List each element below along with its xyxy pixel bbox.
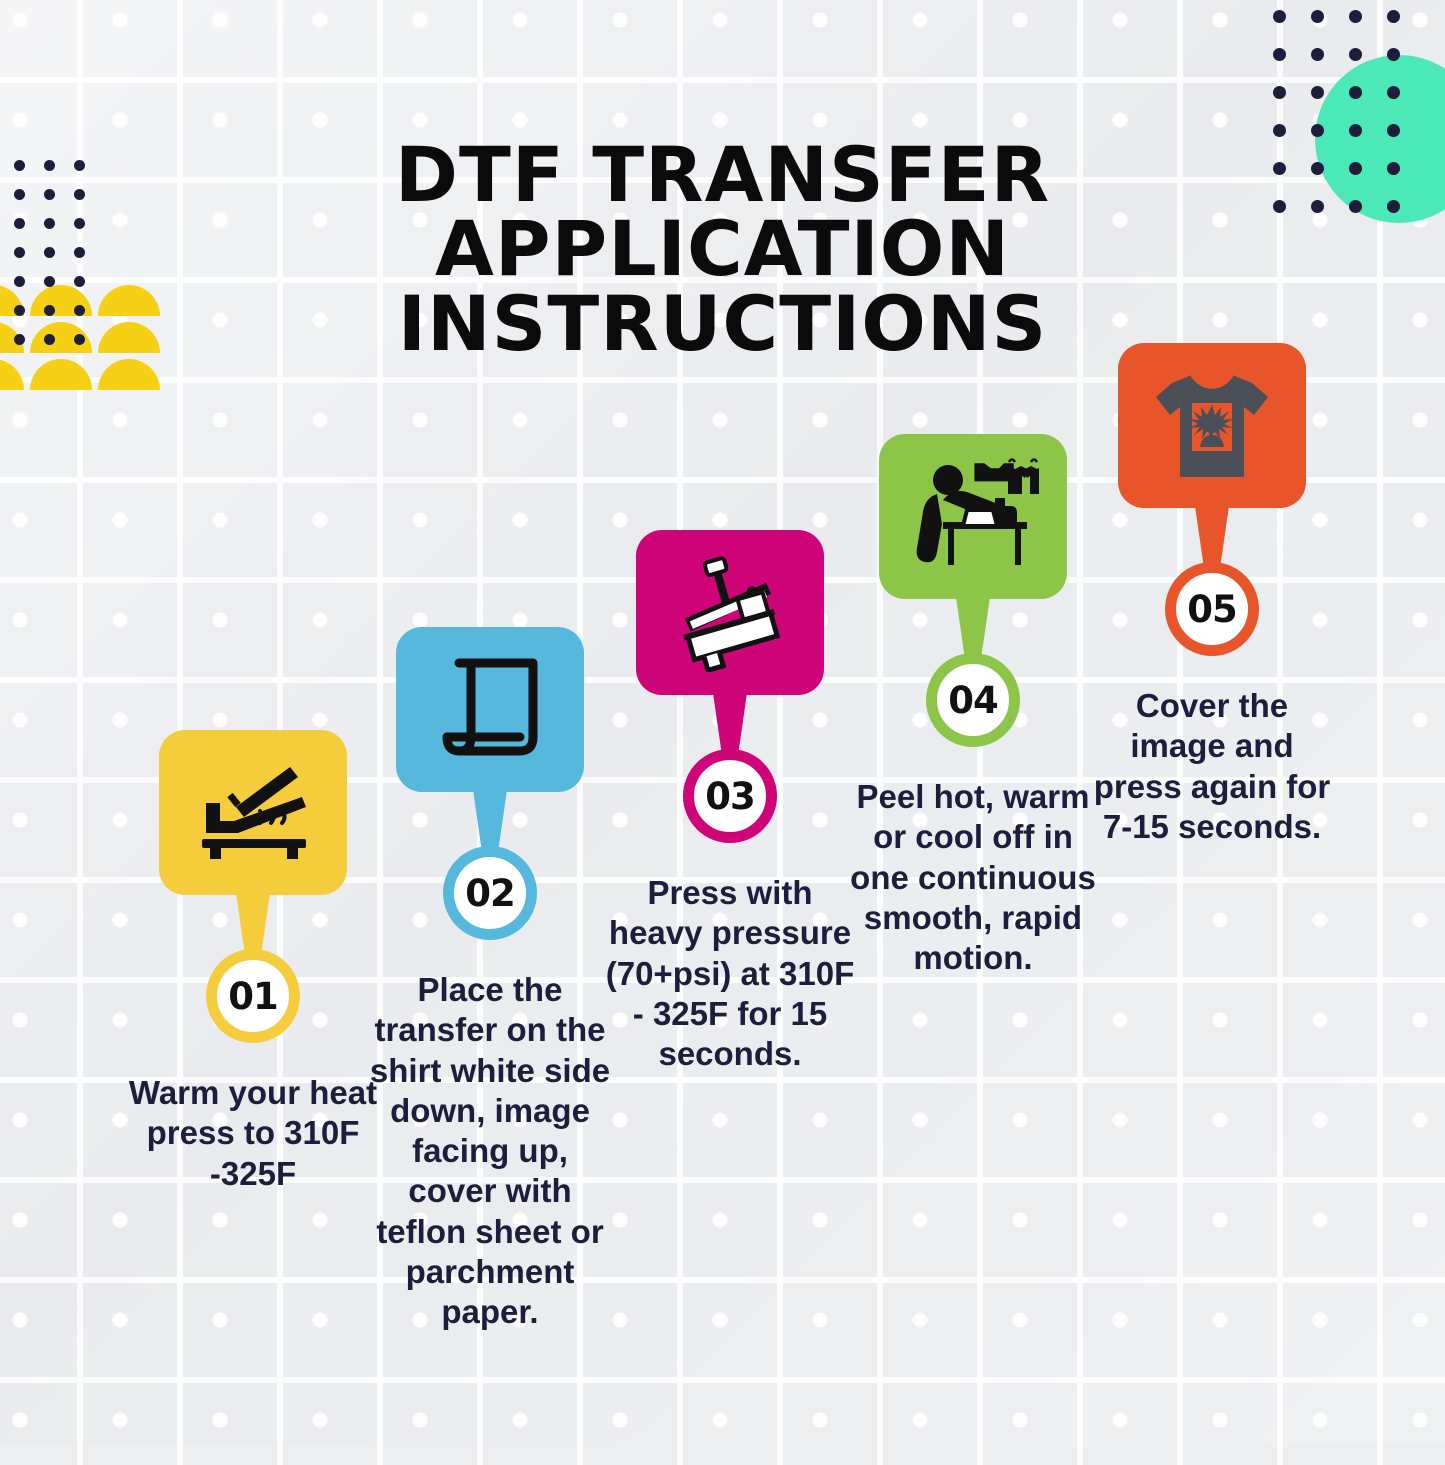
step-description-02: Place the transfer on the shirt white si… bbox=[365, 970, 615, 1332]
step-number-label: 01 bbox=[228, 975, 278, 1018]
step-number-label: 05 bbox=[1187, 588, 1237, 631]
step-number-badge-04: 04 bbox=[926, 653, 1020, 747]
step-description-03: Press with heavy pressure (70+psi) at 31… bbox=[605, 873, 855, 1074]
step-description-05: Cover the image and press again for 7-15… bbox=[1087, 686, 1337, 847]
person-ironing-icon bbox=[907, 458, 1039, 576]
step-icon-card-04 bbox=[879, 434, 1067, 599]
step-description-04: Peel hot, warm or cool off in one contin… bbox=[848, 777, 1098, 978]
step-05: 05Cover the image and press again for 7-… bbox=[1087, 343, 1337, 847]
step-number-badge-02: 02 bbox=[443, 846, 537, 940]
step-icon-card-01 bbox=[159, 730, 347, 895]
step-03: 03Press with heavy pressure (70+psi) at … bbox=[605, 530, 855, 1074]
step-icon-card-03 bbox=[636, 530, 824, 695]
step-number-label: 02 bbox=[465, 872, 515, 915]
step-number-badge-03: 03 bbox=[683, 749, 777, 843]
step-icon-card-02 bbox=[396, 627, 584, 792]
step-number-badge-01: 01 bbox=[206, 949, 300, 1043]
step-number-label: 04 bbox=[948, 679, 998, 722]
step-02: 02Place the transfer on the shirt white … bbox=[365, 627, 615, 1332]
heat-press-machine-icon bbox=[669, 554, 791, 672]
step-01: 01Warm your heat press to 310F -325F bbox=[128, 730, 378, 1194]
step-description-01: Warm your heat press to 310F -325F bbox=[128, 1073, 378, 1194]
step-number-badge-05: 05 bbox=[1165, 562, 1259, 656]
heat-press-icon bbox=[194, 761, 312, 865]
step-icon-card-05 bbox=[1118, 343, 1306, 508]
step-number-label: 03 bbox=[705, 775, 755, 818]
transfer-sheet-icon bbox=[437, 655, 543, 765]
printed-tshirt-icon bbox=[1148, 367, 1276, 485]
step-04: 04Peel hot, warm or cool off in one cont… bbox=[848, 434, 1098, 978]
page-title: DTF TRANSFER APPLICATION INSTRUCTIONS bbox=[0, 138, 1445, 361]
